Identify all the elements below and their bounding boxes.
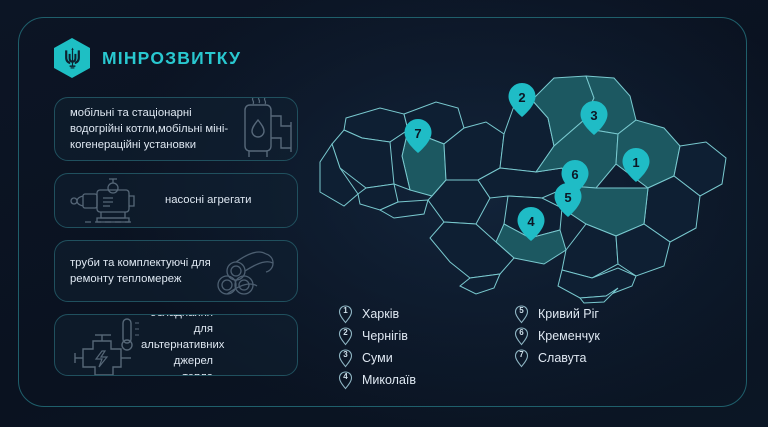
- legend-item-chernihiv[interactable]: 2 Чернігів: [338, 325, 514, 347]
- legend-label: Чернігів: [362, 329, 408, 343]
- marker-number: 6: [571, 167, 578, 182]
- category-card-text: труби та комплектуючі для ремонту теплом…: [55, 255, 230, 287]
- legend-label: Кременчук: [538, 329, 600, 343]
- legend-label: Славута: [538, 351, 586, 365]
- map-pin-icon: 2: [338, 327, 353, 346]
- region-odesa-coast: [460, 274, 500, 294]
- category-card-pipes[interactable]: труби та комплектуючі для ремонту теплом…: [54, 240, 298, 302]
- marker-number: 1: [632, 155, 639, 170]
- marker-number: 3: [590, 108, 597, 123]
- infographic-poster: МІНРОЗВИТКУ мобільні та стаціонарні водо…: [0, 0, 768, 427]
- legend-number: 1: [338, 306, 353, 315]
- legend-label: Кривий Ріг: [538, 307, 599, 321]
- brand-title: МІНРОЗВИТКУ: [102, 48, 241, 69]
- legend-item-mykolaiv[interactable]: 4 Миколаїв: [338, 369, 514, 391]
- map-pin-icon: 4: [338, 371, 353, 390]
- legend-number: 5: [514, 306, 529, 315]
- marker-number: 4: [527, 214, 535, 229]
- map-pin-icon: 5: [514, 305, 529, 324]
- legend-item-sumy[interactable]: 3 Суми: [338, 347, 514, 369]
- map-pin-icon: 6: [514, 327, 529, 346]
- map-pin-icon: 7: [514, 349, 529, 368]
- category-card-pumps[interactable]: насосні агрегати: [54, 173, 298, 228]
- brand-header: МІНРОЗВИТКУ: [54, 38, 241, 78]
- legend-number: 7: [514, 350, 529, 359]
- marker-number: 2: [518, 90, 525, 105]
- map-pin-icon: 3: [338, 349, 353, 368]
- legend-item-kremenchuk[interactable]: 6 Кременчук: [514, 325, 690, 347]
- marker-number: 7: [414, 126, 421, 141]
- legend-number: 3: [338, 350, 353, 359]
- category-card-text: насосні агрегати: [55, 192, 251, 208]
- category-card-alternative-heat[interactable]: обладнання для альтернативних джерел теп…: [54, 314, 298, 376]
- marker-number: 5: [564, 190, 571, 205]
- category-card-boilers[interactable]: мобільні та стаціонарні водогрійні котли…: [54, 97, 298, 161]
- legend-label: Миколаїв: [362, 373, 416, 387]
- legend-item-kryvyi-rih[interactable]: 5 Кривий Ріг: [514, 303, 690, 325]
- legend-item-slavuta[interactable]: 7 Славута: [514, 347, 690, 369]
- legend-label: Харків: [362, 307, 399, 321]
- legend-item-kharkiv[interactable]: 1 Харків: [338, 303, 514, 325]
- legend-label: Суми: [362, 351, 393, 365]
- ukraine-trident-hexagon-logo-icon: [54, 38, 90, 78]
- category-card-text: мобільні та стаціонарні водогрійні котли…: [55, 105, 240, 153]
- category-card-text: обладнання для альтернативних джерел теп…: [55, 314, 213, 376]
- legend-number: 2: [338, 328, 353, 337]
- legend-number: 6: [514, 328, 529, 337]
- legend-number: 4: [338, 372, 353, 381]
- map-pin-icon: 1: [338, 305, 353, 324]
- ukraine-map[interactable]: 1 2 3 4 5: [318, 72, 758, 304]
- city-legend: 1 Харків 2 Чернігів 3 Суми: [338, 303, 690, 391]
